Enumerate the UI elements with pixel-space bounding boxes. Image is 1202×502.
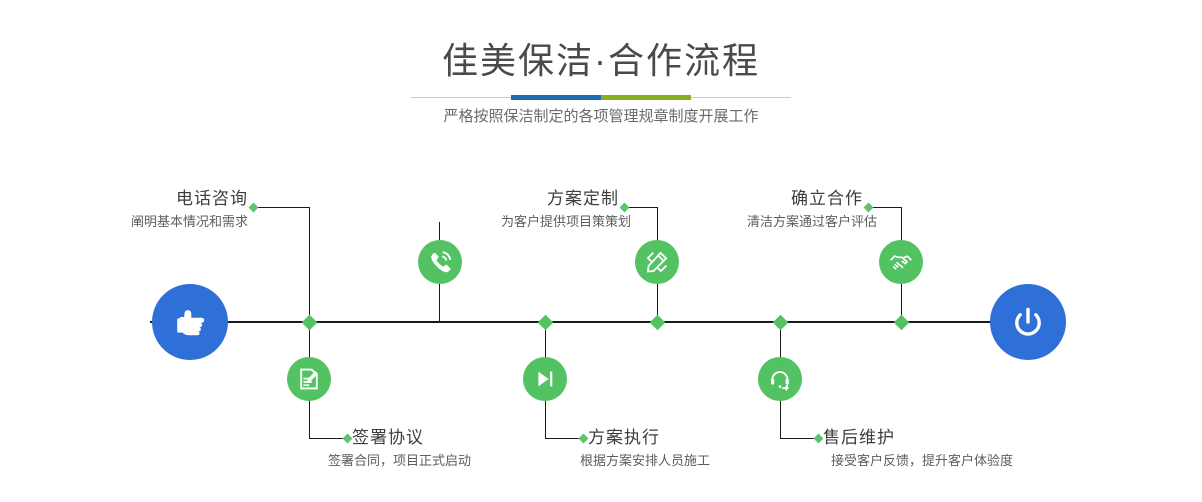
connector-horizontal-5 [869,207,902,208]
phone-call-icon [427,249,453,275]
document-edit-icon [296,366,322,392]
step-label-6: 售后维护 接受客户反馈，提升客户体验度 [823,427,1103,471]
step-icon-4 [523,357,567,401]
step-label-2: 签署协议 签署合同，项目正式启动 [352,427,612,471]
step-desc-1: 阐明基本情况和需求 [50,212,248,232]
axis-marker-2 [302,315,318,331]
axis-marker-5 [773,315,789,331]
step-label-1: 电话咨询 阐明基本情况和需求 [50,188,248,232]
connector-tip-5 [864,203,874,213]
step-desc-6: 接受客户反馈，提升客户体验度 [831,451,1103,471]
divider-segment-green [601,95,691,100]
step-title-5: 确立合作 [660,188,863,210]
pencil-ruler-icon [644,249,670,275]
step-desc-3: 为客户提供项目策策划 [425,212,631,232]
step-title-6: 售后维护 [823,427,1103,449]
power-icon [1007,301,1049,343]
connector-horizontal-1 [254,207,310,208]
header: 佳美保洁·合作流程 严格按照保洁制定的各项管理规章制度开展工作 [0,0,1202,150]
connector-tip-3 [620,203,630,213]
connector-tip-1 [249,203,259,213]
step-label-5: 确立合作 清洁方案通过客户评估 [660,188,863,232]
handshake-icon [888,249,914,275]
timeline-start-endpoint [152,284,228,360]
step-label-3: 方案定制 为客户提供项目策策划 [425,188,619,232]
play-execute-icon [532,366,558,392]
timeline-end-endpoint [990,284,1066,360]
step-icon-3 [635,240,679,284]
title-divider [411,95,791,100]
divider-segment-blue [511,95,601,100]
step-title-1: 电话咨询 [50,188,248,210]
connector-vertical-1 [309,207,310,323]
headset-support-icon [767,366,793,392]
step-icon-1 [418,240,462,284]
step-icon-5 [879,240,923,284]
step-title-3: 方案定制 [425,188,619,210]
step-desc-4: 根据方案安排人员施工 [580,451,848,471]
page-subtitle: 严格按照保洁制定的各项管理规章制度开展工作 [0,105,1202,129]
axis-marker-3b [650,315,666,331]
step-label-4: 方案执行 根据方案安排人员施工 [588,427,848,471]
pointing-hand-icon [169,301,211,343]
connector-horizontal-3 [625,207,658,208]
timeline-axis [150,321,1052,323]
cooperation-process-infographic: 佳美保洁·合作流程 严格按照保洁制定的各项管理规章制度开展工作 [0,0,1202,502]
step-desc-2: 签署合同，项目正式启动 [328,451,612,471]
page-title: 佳美保洁·合作流程 [0,38,1202,84]
step-icon-6 [758,357,802,401]
step-icon-2 [287,357,331,401]
step-desc-5: 清洁方案通过客户评估 [660,212,877,232]
connector-tip-2 [343,434,353,444]
axis-marker-5b [894,315,910,331]
axis-marker-3 [538,315,554,331]
